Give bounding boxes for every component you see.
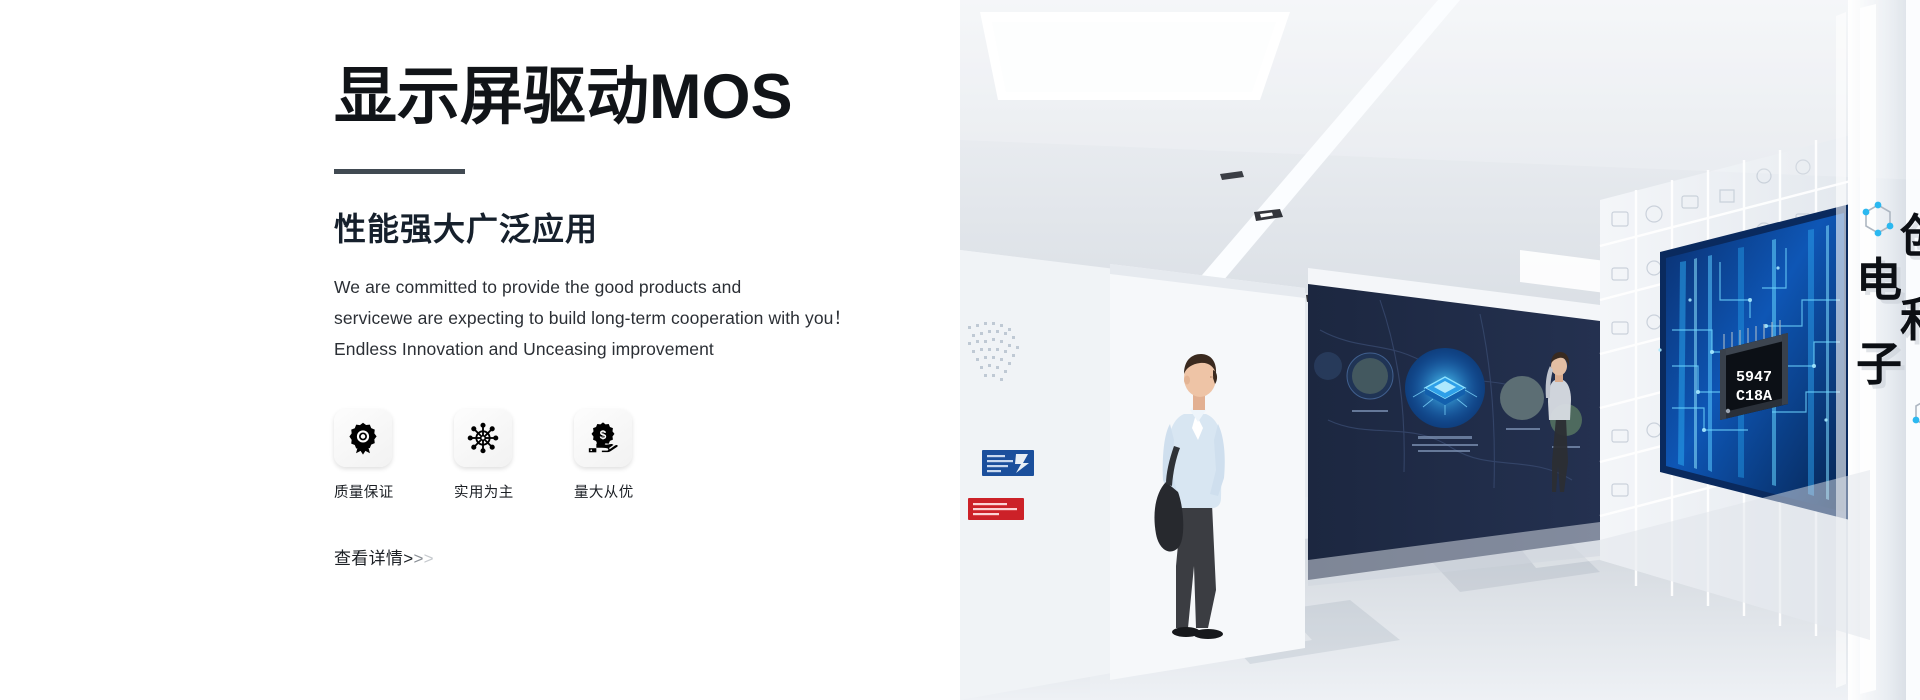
- sign-char-zi: 子: [1856, 338, 1902, 390]
- sign-char-dian: 电: [1856, 254, 1902, 306]
- chevron-3-icon: >: [424, 549, 434, 569]
- hero-banner: 显示屏驱动MOS 性能强大广泛应用 We are committed to pr…: [0, 0, 1920, 700]
- description-paragraph: We are committed to provide the good pro…: [334, 272, 934, 365]
- description-line-1: We are committed to provide the good pro…: [334, 272, 934, 303]
- feature-item-practical[interactable]: 实用为主: [454, 409, 550, 502]
- text-block: 显示屏驱动MOS 性能强大广泛应用 We are committed to pr…: [334, 62, 934, 569]
- view-details-link[interactable]: 查看详情>>>: [334, 544, 434, 569]
- feature-label: 实用为主: [454, 481, 550, 502]
- led-display: 5947 C18A: [1658, 204, 1850, 520]
- feature-label: 量大从优: [574, 481, 670, 502]
- chevron-1-icon: >: [403, 549, 413, 569]
- sign-char-chuang: 创: [1900, 210, 1920, 262]
- feature-label: 质量保证: [334, 481, 430, 502]
- sign-char-he: 和: [1900, 294, 1920, 346]
- chevron-2-icon: >: [413, 549, 423, 569]
- description-line-2: servicewe are expecting to build long-te…: [334, 303, 934, 334]
- showroom-photo: 5947 C18A: [960, 0, 1920, 700]
- page-title: 显示屏驱动MOS: [334, 62, 934, 133]
- feature-list: 质量保证: [334, 409, 934, 502]
- view-details-label: 查看详情: [334, 544, 403, 569]
- chip-label-line2: C18A: [1736, 388, 1772, 405]
- subtitle: 性能强大广泛应用: [334, 210, 934, 248]
- description-line-3: Endless Innovation and Unceasing improve…: [334, 334, 934, 365]
- left-text-panel: 显示屏驱动MOS 性能强大广泛应用 We are committed to pr…: [0, 0, 960, 700]
- feature-item-quality[interactable]: 质量保证: [334, 409, 430, 502]
- title-divider: [334, 169, 465, 174]
- award-ribbon-icon: [334, 409, 392, 467]
- hand-money-icon: $: [574, 409, 632, 467]
- chip-label-line1: 5947: [1736, 369, 1772, 386]
- feature-item-bulk-discount[interactable]: $ 量大从优: [574, 409, 670, 502]
- svg-text:$: $: [600, 428, 607, 442]
- network-hub-icon: [454, 409, 512, 467]
